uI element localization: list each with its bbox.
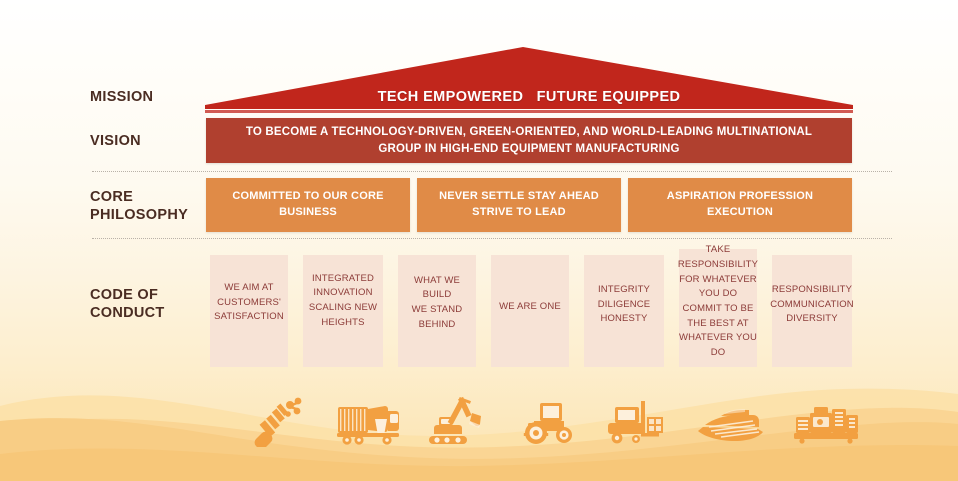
- core-philosophy-text: NEVER SETTLE STAY AHEAD STRIVE TO LEAD: [431, 189, 607, 221]
- core-philosophy-text: ASPIRATION PROFESSION EXECUTION: [628, 189, 852, 221]
- row-label-vision: VISION: [90, 132, 210, 150]
- conduct-card[interactable]: WE ARE ONE: [491, 255, 569, 367]
- row-label-code-of-conduct: CODE OF CONDUCT: [90, 286, 210, 323]
- tractor-icon: [518, 395, 580, 447]
- core-philosophy-box[interactable]: COMMITTED TO OUR CORE BUSINESS: [206, 178, 410, 232]
- conduct-card-text: WHAT WE BUILD WE STAND BEHIND: [398, 274, 476, 333]
- excavator-icon: [429, 391, 491, 447]
- row-label-mission: MISSION: [90, 88, 210, 106]
- divider-vision-core: [92, 171, 892, 172]
- yacht-icon: [695, 403, 765, 447]
- conduct-card[interactable]: TAKE RESPONSIBILITY FOR WHATEVER YOU DO …: [679, 249, 757, 367]
- generator-set-icon: [792, 399, 860, 447]
- core-philosophy-box[interactable]: NEVER SETTLE STAY AHEAD STRIVE TO LEAD: [417, 178, 621, 232]
- conduct-card-text: TAKE RESPONSIBILITY FOR WHATEVER YOU DO …: [673, 243, 763, 361]
- core-philosophy-box[interactable]: ASPIRATION PROFESSION EXECUTION: [628, 178, 852, 232]
- vehicle-icon-strip: [250, 391, 860, 447]
- vision-banner: TO BECOME A TECHNOLOGY-DRIVEN, GREEN-ORI…: [206, 118, 852, 163]
- conduct-card-text: INTEGRITY DILIGENCE HONESTY: [593, 283, 656, 327]
- vision-text: TO BECOME A TECHNOLOGY-DRIVEN, GREEN-ORI…: [206, 124, 852, 157]
- conduct-card-text: INTEGRATED INNOVATION SCALING NEW HEIGHT…: [304, 272, 382, 331]
- drilling-rig-icon: [250, 395, 308, 447]
- conduct-card[interactable]: INTEGRATED INNOVATION SCALING NEW HEIGHT…: [303, 255, 383, 367]
- forklift-icon: [607, 393, 669, 447]
- mission-text: TECH EMPOWERED FUTURE EQUIPPED: [205, 89, 853, 105]
- conduct-card-text: RESPONSIBILITY COMMUNICATION DIVERSITY: [765, 283, 859, 327]
- core-philosophy-row: COMMITTED TO OUR CORE BUSINESS NEVER SET…: [206, 178, 852, 232]
- conduct-card-text: WE ARE ONE: [494, 300, 566, 315]
- conduct-card[interactable]: WHAT WE BUILD WE STAND BEHIND: [398, 255, 476, 367]
- mixer-truck-icon: [335, 395, 403, 447]
- divider-core-conduct: [92, 238, 892, 239]
- code-of-conduct-row: WE AIM AT CUSTOMERS' SATISFACTION INTEGR…: [210, 249, 852, 367]
- conduct-card[interactable]: INTEGRITY DILIGENCE HONESTY: [584, 255, 664, 367]
- row-label-core-philosophy: CORE PHILOSOPHY: [90, 188, 210, 225]
- conduct-card[interactable]: WE AIM AT CUSTOMERS' SATISFACTION: [210, 255, 288, 367]
- mission-roof: TECH EMPOWERED FUTURE EQUIPPED: [205, 47, 853, 114]
- conduct-card[interactable]: RESPONSIBILITY COMMUNICATION DIVERSITY: [772, 255, 852, 367]
- core-philosophy-text: COMMITTED TO OUR CORE BUSINESS: [224, 189, 391, 221]
- conduct-card-text: WE AIM AT CUSTOMERS' SATISFACTION: [209, 281, 289, 325]
